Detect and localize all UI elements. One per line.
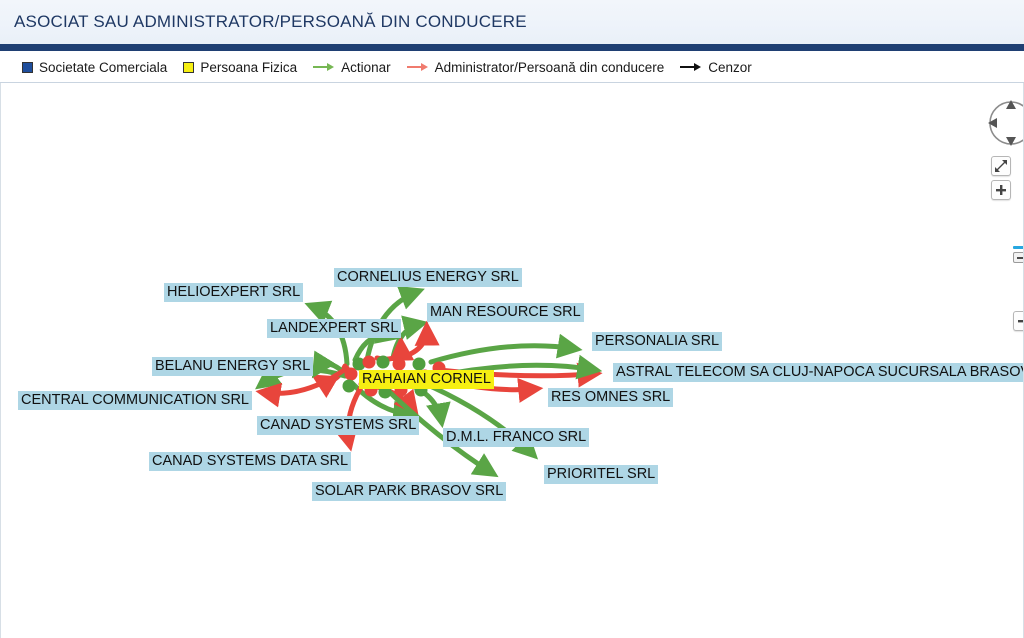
zoom-slider-tick	[1013, 246, 1024, 249]
arrow-right-icon	[313, 61, 335, 73]
legend-item-1: Persoana Fizica	[183, 60, 297, 75]
graph-node[interactable]: PRIORITEL SRL	[544, 465, 658, 484]
graph-node[interactable]: ASTRAL TELECOM SA CLUJ-NAPOCA SUCURSALA …	[613, 363, 1024, 382]
graph-node[interactable]: SOLAR PARK BRASOV SRL	[312, 482, 506, 501]
legend-item-4: Cenzor	[680, 60, 752, 75]
graph-node[interactable]: HELIOEXPERT SRL	[164, 283, 303, 302]
legend-item-3: Administrator/Persoană din conducere	[407, 60, 665, 75]
square-swatch	[183, 62, 194, 73]
graph-node[interactable]: D.M.L. FRANCO SRL	[443, 428, 589, 447]
graph-node[interactable]: CORNELIUS ENERGY SRL	[334, 268, 522, 287]
pan-compass-icon[interactable]	[985, 97, 1024, 149]
page-title: ASOCIAT SAU ADMINISTRATOR/PERSOANĂ DIN C…	[14, 12, 527, 32]
legend-item-0: Societate Comerciala	[22, 60, 167, 75]
graph-node[interactable]: CENTRAL COMMUNICATION SRL	[18, 391, 252, 410]
graph-node[interactable]: LANDEXPERT SRL	[267, 319, 401, 338]
legend-item-label: Societate Comerciala	[39, 60, 167, 75]
graph-canvas[interactable]: RAHAIAN CORNELCORNELIUS ENERGY SRLHELIOE…	[0, 83, 1024, 638]
graph-node[interactable]: CANAD SYSTEMS SRL	[257, 416, 419, 435]
graph-node[interactable]: PERSONALIA SRL	[592, 332, 722, 351]
graph-node[interactable]: MAN RESOURCE SRL	[427, 303, 584, 322]
graph-node[interactable]: BELANU ENERGY SRL	[152, 357, 313, 376]
zoom-out-icon[interactable]	[1013, 311, 1024, 331]
arrow-right-icon	[680, 61, 702, 73]
zoom-slider-handle[interactable]	[1013, 252, 1024, 263]
legend-item-label: Persoana Fizica	[200, 60, 297, 75]
arrow-right-icon	[407, 61, 429, 73]
app-header: ASOCIAT SAU ADMINISTRATOR/PERSOANĂ DIN C…	[0, 0, 1024, 44]
map-navigation-controls[interactable]	[979, 83, 1023, 343]
legend-item-label: Actionar	[341, 60, 391, 75]
legend-item-2: Actionar	[313, 60, 391, 75]
zoom-in-icon[interactable]	[991, 180, 1011, 200]
graph-node[interactable]: CANAD SYSTEMS DATA SRL	[149, 452, 351, 471]
legend-items: Societate ComercialaPersoana FizicaActio…	[22, 51, 752, 83]
legend-item-label: Administrator/Persoană din conducere	[435, 60, 665, 75]
fullscreen-icon[interactable]	[991, 156, 1011, 176]
square-swatch	[22, 62, 33, 73]
header-divider	[0, 44, 1024, 51]
graph-center-node[interactable]: RAHAIAN CORNEL	[359, 370, 494, 389]
legend-bar: Societate ComercialaPersoana FizicaActio…	[0, 51, 1024, 83]
legend-item-label: Cenzor	[708, 60, 752, 75]
graph-node[interactable]: RES OMNES SRL	[548, 388, 673, 407]
